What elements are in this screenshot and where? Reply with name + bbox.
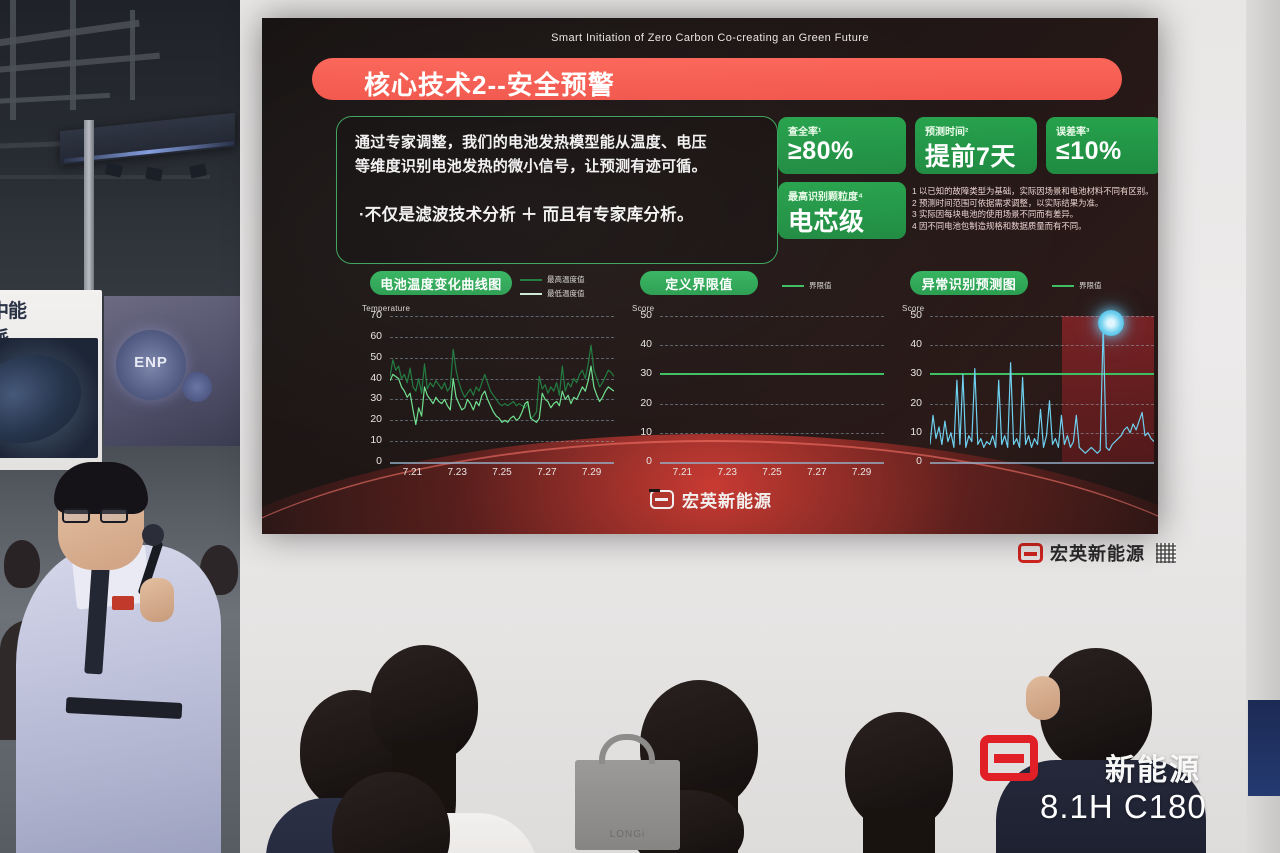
y-axis-tick: 0 (362, 455, 382, 467)
gridline (660, 433, 884, 434)
y-axis-tick: 0 (632, 455, 652, 467)
neighbor-booth-logo-text: ENP (116, 354, 186, 371)
y-axis-tick: 60 (362, 330, 382, 342)
legend-swatch (520, 279, 542, 281)
legend-swatch (520, 293, 542, 295)
gridline (660, 404, 884, 405)
background-blue-panel (1248, 700, 1280, 796)
ceiling-truss (70, 0, 76, 110)
body-line-3: ·不仅是滤波技术分析 ＋ 而且有专家库分析。 (359, 201, 694, 225)
ceiling-truss (10, 0, 16, 120)
legend-label: 界限值 (809, 280, 832, 291)
slide-footnotes: 1 以已知的故障类型为基础，实际因场景和电池材料不同有区别。 2 预测时间范围可… (912, 186, 1158, 232)
spotlight-icon (145, 167, 163, 182)
footnote-3: 3 实际因每块电池的使用场景不同而有差异。 (912, 209, 1158, 221)
ceiling-truss (0, 175, 210, 179)
chart-title-temperature: 电池温度变化曲线图 (370, 271, 512, 295)
y-axis-tick: 40 (902, 338, 922, 350)
handbag: LONGi (575, 760, 680, 850)
gridline (660, 316, 884, 317)
presenter-glasses (62, 508, 134, 524)
y-axis-tick: 20 (902, 397, 922, 409)
body-line-1: 通过专家调整，我们的电池发热模型能从温度、电压 (355, 131, 707, 152)
chart-legend-threshold: 界限值 (782, 280, 832, 294)
metric-value: ≤10% (1056, 137, 1122, 166)
y-axis-tick: 20 (632, 397, 652, 409)
chart-anomaly: Score 01020304050 (902, 304, 1158, 484)
chart-threshold: Score 01020304050 7.217.237.257.277.29 (632, 304, 890, 484)
legend-label: 最低温度值 (547, 288, 585, 299)
neighbor-booth-sub-logo: 中能派 (0, 296, 30, 324)
crowd-person (4, 540, 40, 588)
legend-swatch (782, 285, 804, 287)
chart-legend-anomaly: 界限值 (1052, 280, 1102, 294)
wall-brand-logo: 宏英新能源 (1018, 540, 1176, 566)
x-axis-tick: 7.21 (667, 467, 697, 478)
legend-swatch (1052, 285, 1074, 287)
metric-label: 预测时间² (925, 123, 968, 138)
microphone-icon (142, 524, 164, 546)
footnote-1: 1 以已知的故障类型为基础，实际因场景和电池材料不同有区别。 (912, 186, 1158, 198)
y-axis-tick: 50 (632, 309, 652, 321)
chart3-plot (930, 316, 1154, 464)
metric-card-recall: 查全率¹ ≥80% (778, 117, 906, 174)
slide-title: 核心技术2--安全预警 (364, 65, 615, 102)
projected-slide: Smart Initiation of Zero Carbon Co-creat… (262, 18, 1158, 534)
slide-title-bar: 核心技术2--安全预警 (312, 58, 1122, 100)
slide-brand-text: 宏英新能源 (682, 487, 772, 512)
series-line (930, 325, 1154, 453)
y-axis-tick: 30 (902, 367, 922, 379)
presenter-hand (140, 578, 174, 622)
legend-label: 界限值 (1079, 280, 1102, 291)
y-axis-tick: 10 (902, 426, 922, 438)
metric-card-granularity: 最高识别颗粒度⁴ 电芯级 (778, 182, 906, 239)
neighbor-booth-logo: ENP (116, 330, 186, 400)
metric-label: 查全率¹ (788, 123, 821, 138)
chart-temperature: Temperature 010203040506070 7.217.237.25… (362, 304, 622, 484)
slide-brand-logo: 宏英新能源 (650, 487, 772, 512)
y-axis-tick: 40 (632, 338, 652, 350)
metric-card-lead-time: 预测时间² 提前7天 (915, 117, 1037, 174)
neighbor-booth-decor-circle (182, 372, 212, 402)
qr-code-icon (1156, 543, 1176, 563)
x-axis-tick: 7.29 (847, 467, 877, 478)
legend-label: 最高温度值 (547, 274, 585, 285)
y-axis-tick: 30 (362, 392, 382, 404)
wall-brand-text: 宏英新能源 (1050, 540, 1145, 566)
handbag-brand-text: LONGi (575, 829, 680, 840)
slide-subtitle: Smart Initiation of Zero Carbon Co-creat… (262, 32, 1158, 44)
y-axis-tick: 50 (362, 351, 382, 363)
chart-legend-temperature: 最高温度值 最低温度值 (520, 274, 585, 302)
y-axis-tick: 10 (362, 434, 382, 446)
slide-text-panel: 通过专家调整，我们的电池发热模型能从温度、电压 等维度识别电池发热的微小信号，让… (336, 116, 778, 264)
x-axis-tick: 7.23 (442, 467, 472, 478)
footnote-4: 4 因不同电池包制造规格和数据质量而有不同。 (912, 221, 1158, 233)
overlay-booth-number: 8.1H C180 (1040, 788, 1207, 826)
metric-value: 提前7天 (925, 137, 1016, 173)
y-axis-tick: 50 (902, 309, 922, 321)
metric-label: 误差率³ (1056, 123, 1089, 138)
y-axis-tick: 0 (902, 455, 922, 467)
chart3-peak-marker (1098, 310, 1124, 336)
y-axis-tick: 30 (632, 367, 652, 379)
series-line (390, 345, 614, 418)
y-axis-tick: 70 (362, 309, 382, 321)
ceiling-truss (130, 10, 135, 100)
metric-card-error-rate: 误差率³ ≤10% (1046, 117, 1158, 174)
chart1-plot (390, 316, 614, 464)
metric-value: ≥80% (788, 137, 854, 166)
metric-value: 电芯级 (788, 202, 865, 238)
overlay-brand-mark-icon (980, 735, 1038, 781)
x-axis-tick: 7.27 (532, 467, 562, 478)
x-axis-tick: 7.27 (802, 467, 832, 478)
x-axis-tick: 7.25 (487, 467, 517, 478)
body-line-2: 等维度识别电池发热的微小信号，让预测有迹可循。 (355, 155, 707, 176)
hongying-logo-icon (650, 490, 674, 509)
y-axis-tick: 10 (632, 426, 652, 438)
footnote-2: 2 预测时间范围可依据需求调整，以实际结果为准。 (912, 198, 1158, 210)
chart2-threshold-line (660, 373, 884, 375)
presenter-badge (112, 596, 134, 610)
y-axis-tick: 20 (362, 413, 382, 425)
overlay-brand-text: 新能源 (1105, 745, 1201, 789)
neighbor-booth-display (0, 338, 98, 458)
y-axis-tick: 40 (362, 372, 382, 384)
chart2-xaxis (660, 462, 884, 464)
x-axis-tick: 7.21 (397, 467, 427, 478)
x-axis-tick: 7.25 (757, 467, 787, 478)
hongying-logo-icon (1018, 543, 1043, 563)
presenter-hair (54, 462, 148, 514)
x-axis-tick: 7.23 (712, 467, 742, 478)
chart-title-threshold: 定义界限值 (640, 271, 758, 295)
x-axis-tick: 7.29 (577, 467, 607, 478)
metric-label: 最高识别颗粒度⁴ (788, 188, 863, 203)
gridline (660, 345, 884, 346)
chart-title-anomaly: 异常识别预测图 (910, 271, 1028, 295)
